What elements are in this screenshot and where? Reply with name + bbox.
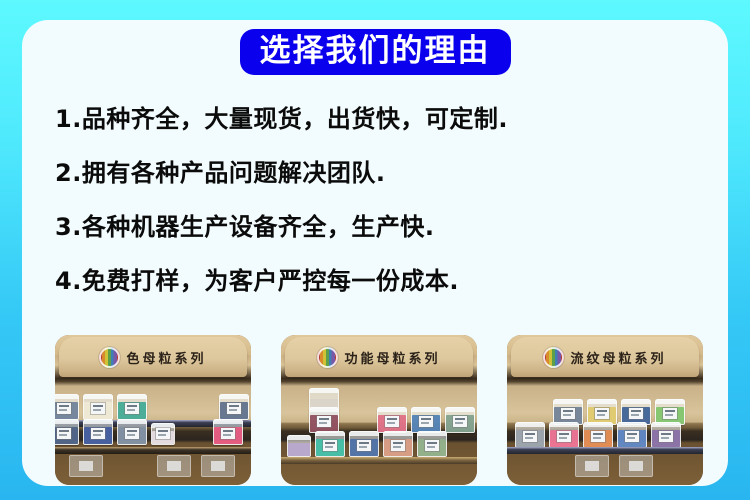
striped-circle-logo-icon xyxy=(543,347,564,368)
product-jar xyxy=(219,394,249,420)
product-jar xyxy=(117,419,147,445)
striped-circle-logo-icon xyxy=(317,347,338,368)
list-item: 1.品种齐全，大量现货，出货快，可定制. xyxy=(55,106,695,132)
shelf-plank xyxy=(55,447,251,454)
product-jar xyxy=(69,455,103,477)
jar-row-under xyxy=(575,455,653,477)
product-photo-strip: 色母粒系列 xyxy=(55,335,703,485)
promo-banner: 选择我们的理由 1.品种齐全，大量现货，出货快，可定制. 2.拥有各种产品问题解… xyxy=(0,0,750,500)
shelf-signboard: 色母粒系列 xyxy=(59,337,247,377)
jar-row-top xyxy=(55,394,249,420)
shelf-caption: 功能母粒系列 xyxy=(344,348,440,367)
product-jar xyxy=(157,455,191,477)
product-jar xyxy=(349,431,379,457)
product-photo-card: 功能母粒系列 xyxy=(281,335,477,485)
product-jar xyxy=(287,435,311,457)
product-jar xyxy=(383,431,413,457)
shelf-plank xyxy=(281,457,477,464)
product-jar xyxy=(619,455,653,477)
striped-circle-logo-icon xyxy=(99,347,120,368)
product-jar xyxy=(201,455,235,477)
jar-row-bottom xyxy=(287,431,447,457)
product-jar xyxy=(445,407,475,433)
product-jar xyxy=(515,422,545,448)
product-jar xyxy=(117,394,147,420)
jar-row-bottom xyxy=(515,422,681,448)
product-jar xyxy=(377,407,407,433)
product-jar xyxy=(651,422,681,448)
shelf-caption: 流纹母粒系列 xyxy=(570,348,666,367)
list-item: 3.各种机器生产设备齐全，生产快. xyxy=(55,214,695,240)
product-jar xyxy=(55,394,79,420)
jar-row-top xyxy=(309,407,475,433)
jar-row-under xyxy=(69,455,235,477)
reasons-list: 1.品种齐全，大量现货，出货快，可定制. 2.拥有各种产品问题解决团队. 3.各… xyxy=(55,106,695,322)
product-jar xyxy=(151,423,175,445)
product-jar xyxy=(417,431,447,457)
product-jar xyxy=(549,422,579,448)
product-photo-card: 色母粒系列 xyxy=(55,335,251,485)
product-jar xyxy=(309,407,339,433)
product-jar xyxy=(617,422,647,448)
shelf-caption: 色母粒系列 xyxy=(126,348,206,367)
page-title: 选择我们的理由 xyxy=(240,29,511,75)
shelf-plank xyxy=(507,447,703,454)
list-item: 2.拥有各种产品问题解决团队. xyxy=(55,160,695,186)
product-photo-card: 流纹母粒系列 xyxy=(507,335,703,485)
content-panel: 选择我们的理由 1.品种齐全，大量现货，出货快，可定制. 2.拥有各种产品问题解… xyxy=(22,20,728,486)
product-jar xyxy=(83,419,113,445)
title-section: 选择我们的理由 xyxy=(22,29,728,75)
product-jar xyxy=(213,419,243,445)
product-jar xyxy=(575,455,609,477)
product-jar xyxy=(83,394,113,420)
shelf-signboard: 功能母粒系列 xyxy=(285,337,473,377)
product-jar xyxy=(411,407,441,433)
product-jar xyxy=(55,419,79,445)
shelf-signboard: 流纹母粒系列 xyxy=(511,337,699,377)
list-item: 4.免费打样，为客户严控每一份成本. xyxy=(55,268,695,294)
jar-row-bottom xyxy=(55,419,243,445)
product-jar xyxy=(315,431,345,457)
product-jar xyxy=(583,422,613,448)
